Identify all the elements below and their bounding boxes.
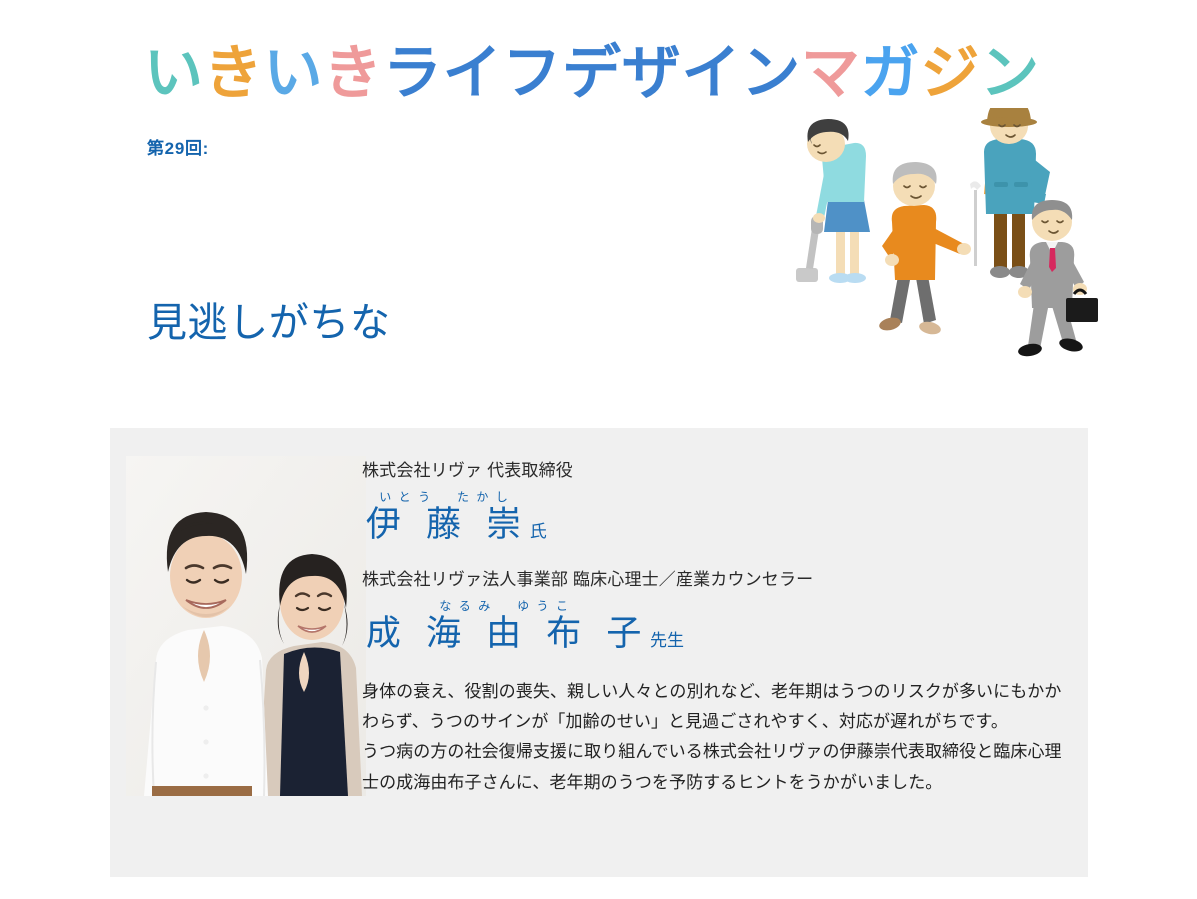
illustration-businessman	[1017, 200, 1098, 358]
person-1-furigana: いとう たかし	[362, 491, 529, 503]
person-1-ruby-stack: いとう たかし 伊 藤 崇	[362, 491, 529, 544]
logo-char-11: マ	[801, 43, 861, 102]
profile-details: 株式会社リヴァ 代表取締役 いとう たかし 伊 藤 崇 氏 株式会社リヴァ法人事…	[362, 444, 1074, 798]
hero-illustration	[778, 108, 1118, 398]
lede-paragraph-2: うつ病の方の社会復帰支援に取り組んでいる株式会社リヴァの伊藤崇代表取締役と臨床心…	[362, 737, 1074, 798]
article-lede: 身体の衰え、役割の喪失、親しい人々との別れなど、老年期はうつのリスクが多いにもか…	[362, 677, 1074, 798]
person-2-name: 成 海 由 布 子	[362, 615, 649, 653]
logo-char-13: ジ	[920, 43, 980, 102]
illustration-elderly-walking	[878, 162, 971, 336]
interviewee-photo	[126, 456, 366, 796]
logo-char-8: ザ	[622, 43, 682, 102]
person-1-organization: 株式会社リヴァ 代表取締役	[362, 457, 1074, 484]
logo-char-3: き	[323, 43, 383, 102]
logo-char-10: ン	[741, 43, 801, 102]
logo-char-1: き	[204, 43, 264, 102]
site-logo: いきいきライフデザインマガジン	[144, 43, 1040, 102]
issue-number-label: 第29回:	[147, 134, 209, 159]
person-2-furigana: なるみ ゆうこ	[362, 600, 649, 612]
profile-panel: 株式会社リヴァ 代表取締役 いとう たかし 伊 藤 崇 氏 株式会社リヴァ法人事…	[110, 428, 1088, 877]
masthead: いきいきライフデザインマガジン 第29回: 見逃しがちな 〈老年期のうつ〉を予防	[0, 0, 1197, 420]
logo-char-6: フ	[502, 43, 562, 102]
logo-char-7: デ	[562, 43, 622, 102]
person-2-honorific: 先生	[650, 626, 684, 651]
person-2-name-block: なるみ ゆうこ 成 海 由 布 子 先生	[362, 600, 1074, 653]
logo-char-5: イ	[443, 43, 503, 102]
person-1-honorific: 氏	[530, 517, 547, 542]
person-2-organization: 株式会社リヴァ法人事業部 臨床心理士／産業カウンセラー	[362, 566, 1074, 593]
logo-char-12: ガ	[861, 43, 921, 102]
lede-paragraph-1: 身体の衰え、役割の喪失、親しい人々との別れなど、老年期はうつのリスクが多いにもか…	[362, 677, 1074, 738]
headline-line-1: 見逃しがちな	[147, 294, 594, 352]
person-2-ruby-stack: なるみ ゆうこ 成 海 由 布 子	[362, 600, 649, 653]
logo-char-14: ン	[980, 43, 1040, 102]
logo-char-9: イ	[681, 43, 741, 102]
person-1-name: 伊 藤 崇	[362, 506, 529, 544]
person-1-name-block: いとう たかし 伊 藤 崇 氏	[362, 491, 1074, 544]
logo-char-2: い	[263, 43, 323, 102]
illustration-woman-vacuuming	[796, 119, 870, 283]
logo-char-4: ラ	[383, 43, 443, 102]
logo-char-0: い	[144, 43, 204, 102]
